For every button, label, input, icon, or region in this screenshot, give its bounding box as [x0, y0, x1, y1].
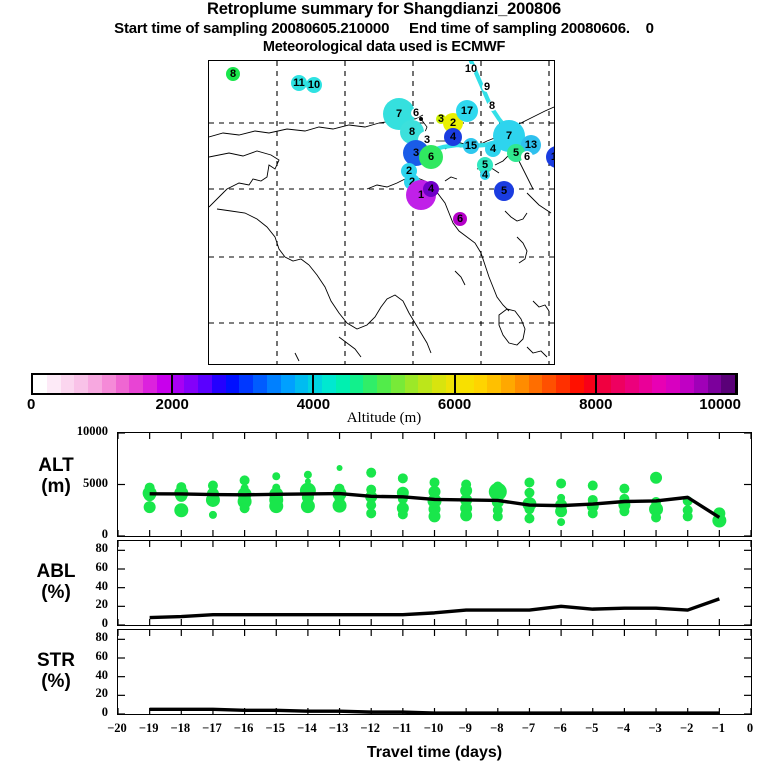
colorbar-swatch: [74, 375, 88, 393]
alt-scatter-point: [651, 512, 661, 522]
alt-scatter-point: [333, 499, 347, 513]
abl-plot: [118, 541, 751, 625]
map-marker-label: 10: [308, 79, 320, 91]
colorbar-swatch: [33, 375, 47, 393]
colorbar-tick-label: 8000: [556, 396, 636, 413]
colorbar-swatch: [336, 375, 350, 393]
colorbar-swatch: [694, 375, 708, 393]
colorbar-swatch: [184, 375, 198, 393]
y-tick-label: 80: [62, 630, 108, 645]
colorbar-swatch: [129, 375, 143, 393]
colorbar-swatch: [501, 375, 515, 393]
alt-scatter-point: [398, 473, 408, 483]
meteorology-note: Meteorological data used is ECMWF: [0, 38, 768, 56]
colorbar-swatch: [405, 375, 419, 393]
colorbar-swatch: [116, 375, 130, 393]
x-tick-label: −9: [450, 721, 480, 736]
map-gridlines: [209, 61, 554, 364]
colorbar-swatch: [308, 375, 322, 393]
x-tick-label: −16: [229, 721, 259, 736]
map-marker-label: 6: [457, 213, 463, 225]
colorbar-swatch: [515, 375, 529, 393]
x-tick-label: −3: [640, 721, 670, 736]
alt-scatter-point: [240, 503, 250, 513]
alt-scatter-point: [240, 475, 250, 485]
colorbar-swatch: [350, 375, 364, 393]
title-block: Retroplume summary for Shangdianzi_20080…: [0, 0, 768, 56]
x-tick-label: −12: [355, 721, 385, 736]
colorbar-swatch: [432, 375, 446, 393]
x-tick-label: −10: [419, 721, 449, 736]
map-marker-label: 7: [396, 108, 402, 120]
str-plot: [118, 630, 751, 714]
x-tick-label: −7: [513, 721, 543, 736]
retroplume-map: 811107683217834157133645610554221456910: [208, 60, 555, 365]
x-tick-label: −4: [608, 721, 638, 736]
alt-scatter-point: [619, 506, 629, 516]
colorbar-swatch: [611, 375, 625, 393]
colorbar-swatch: [570, 375, 584, 393]
alt-chart-panel: [117, 432, 752, 537]
alt-scatter-point: [524, 513, 534, 523]
alt-scatter-point: [144, 501, 156, 513]
colorbar-swatch: [267, 375, 281, 393]
alt-scatter-point: [588, 481, 598, 491]
colorbar-swatch: [418, 375, 432, 393]
colorbar-tick-label: 10000: [661, 396, 741, 413]
colorbar-swatch: [652, 375, 666, 393]
x-tick-label: −5: [577, 721, 607, 736]
map-marker-label: 2: [450, 117, 456, 129]
colorbar-swatch: [377, 375, 391, 393]
colorbar-divider: [454, 373, 456, 395]
colorbar-swatch: [253, 375, 267, 393]
colorbar-swatch: [680, 375, 694, 393]
alt-scatter-point: [398, 509, 408, 519]
y-tick-label: 80: [62, 541, 108, 556]
alt-scatter-point: [269, 499, 283, 513]
x-tick-label: −13: [324, 721, 354, 736]
alt-scatter-point: [524, 488, 534, 498]
alt-scatter-point: [301, 499, 315, 513]
y-tick-label: 40: [62, 668, 108, 683]
colorbar-swatch: [721, 375, 735, 393]
colorbar-swatch: [47, 375, 61, 393]
colorbar-swatch: [597, 375, 611, 393]
colorbar-swatch: [391, 375, 405, 393]
colorbar-swatch: [556, 375, 570, 393]
map-marker-label: 5: [513, 147, 519, 159]
map-marker-label: 8: [489, 100, 495, 112]
abl-line: [150, 599, 720, 618]
alt-scatter-point: [619, 484, 629, 494]
y-tick-label: 5000: [62, 476, 108, 491]
colorbar-swatch: [102, 375, 116, 393]
colorbar-divider: [171, 373, 173, 395]
colorbar-swatch: [487, 375, 501, 393]
colorbar-swatch: [529, 375, 543, 393]
colorbar-swatch: [143, 375, 157, 393]
map-marker-label: 4: [428, 183, 435, 195]
y-tick-label: 40: [62, 579, 108, 594]
colorbar-swatch: [61, 375, 75, 393]
map-marker-label: 6: [413, 107, 419, 119]
alt-scatter-point: [493, 511, 503, 521]
x-tick-label: −6: [545, 721, 575, 736]
colorbar-tick-label: 6000: [415, 396, 495, 413]
colorbar-title: Altitude (m): [0, 410, 768, 427]
x-tick-label: −2: [672, 721, 702, 736]
map-marker-group: 811107683217834157133645610554221456910: [226, 63, 554, 226]
alt-scatter-point: [683, 511, 693, 521]
map-marker-label: 4: [490, 143, 497, 155]
alt-scatter-point: [175, 490, 187, 502]
map-marker-label: 11: [293, 77, 305, 89]
alt-plot: [118, 433, 751, 536]
map-marker-label: 7: [506, 130, 512, 142]
alt-scatter-point: [209, 511, 217, 519]
map-marker-label: 6: [524, 151, 530, 163]
alt-scatter-point: [557, 518, 565, 526]
map-marker-label: 4: [482, 169, 489, 181]
colorbar-swatch: [295, 375, 309, 393]
colorbar-divider: [736, 373, 738, 395]
alt-scatter-point: [588, 508, 598, 518]
map-marker-label: 10: [465, 63, 477, 75]
map-marker-label: 8: [409, 126, 415, 138]
alt-scatter-point: [556, 478, 566, 488]
colorbar-swatch: [460, 375, 474, 393]
x-tick-label: −11: [387, 721, 417, 736]
map-marker-label: 1: [418, 189, 424, 201]
colorbar-swatch: [639, 375, 653, 393]
alt-scatter-point: [524, 477, 534, 487]
map-marker-label: 15: [465, 140, 477, 152]
colorbar-tick-label: 4000: [273, 396, 353, 413]
x-tick-label: −20: [102, 721, 132, 736]
y-tick-label: 10000: [62, 424, 108, 439]
alt-scatter-point: [337, 465, 343, 471]
x-tick-label: −1: [703, 721, 733, 736]
alt-scatter-point: [366, 508, 376, 518]
x-tick-label: −17: [197, 721, 227, 736]
abl-chart-panel: [117, 540, 752, 626]
map-marker-label: 10: [551, 151, 554, 163]
x-tick-label: −18: [165, 721, 195, 736]
map-marker-label: 5: [501, 185, 507, 197]
x-tick-label: −19: [134, 721, 164, 736]
alt-scatter-point: [366, 468, 376, 478]
map-marker-label: 13: [525, 139, 537, 151]
y-tick-label: 0: [62, 527, 108, 542]
y-tick-label: 0: [62, 705, 108, 720]
colorbar-swatch: [239, 375, 253, 393]
x-axis-title: Travel time (days): [117, 744, 752, 762]
colorbar-swatch: [363, 375, 377, 393]
colorbar-divider: [312, 373, 314, 395]
colorbar-swatch: [474, 375, 488, 393]
str-chart-panel: [117, 629, 752, 715]
y-tick-label: 20: [62, 686, 108, 701]
y-tick-label: 60: [62, 649, 108, 664]
colorbar-swatch: [198, 375, 212, 393]
colorbar-divider: [595, 373, 597, 395]
x-tick-label: 0: [735, 721, 765, 736]
alt-scatter-point: [429, 510, 441, 522]
colorbar-tick-label: 0: [27, 396, 107, 413]
colorbar-swatch: [226, 375, 240, 393]
colorbar-swatch: [322, 375, 336, 393]
map-marker-label: 3: [413, 147, 419, 159]
map-svg: 811107683217834157133645610554221456910: [209, 61, 554, 364]
x-tick-label: −8: [482, 721, 512, 736]
alt-scatter-point: [460, 509, 472, 521]
altitude-colorbar: [31, 373, 737, 395]
map-marker-label: 8: [230, 68, 236, 80]
x-tick-label: −15: [260, 721, 290, 736]
colorbar-tick-label: 2000: [132, 396, 212, 413]
colorbar-swatch: [157, 375, 171, 393]
sampling-time-subtitle: Start time of sampling 20080605.210000 E…: [0, 19, 768, 38]
colorbar-swatch: [666, 375, 680, 393]
colorbar-swatch: [625, 375, 639, 393]
alt-scatter-point: [304, 471, 312, 479]
alt-scatter-point: [272, 472, 280, 480]
map-marker-label: 9: [484, 81, 490, 93]
colorbar-swatch: [212, 375, 226, 393]
page-title: Retroplume summary for Shangdianzi_20080…: [0, 0, 768, 19]
colorbar-swatch: [542, 375, 556, 393]
alt-scatter-point: [650, 472, 662, 484]
y-tick-label: 20: [62, 597, 108, 612]
map-marker-label: 6: [428, 151, 434, 163]
map-marker-label: 17: [461, 105, 473, 117]
colorbar-swatch: [281, 375, 295, 393]
y-tick-label: 60: [62, 560, 108, 575]
y-tick-label: 0: [62, 616, 108, 631]
x-tick-label: −14: [292, 721, 322, 736]
alt-scatter-point: [174, 503, 188, 517]
colorbar-swatch: [88, 375, 102, 393]
colorbar-swatch: [708, 375, 722, 393]
map-marker-label: 4: [450, 131, 457, 143]
